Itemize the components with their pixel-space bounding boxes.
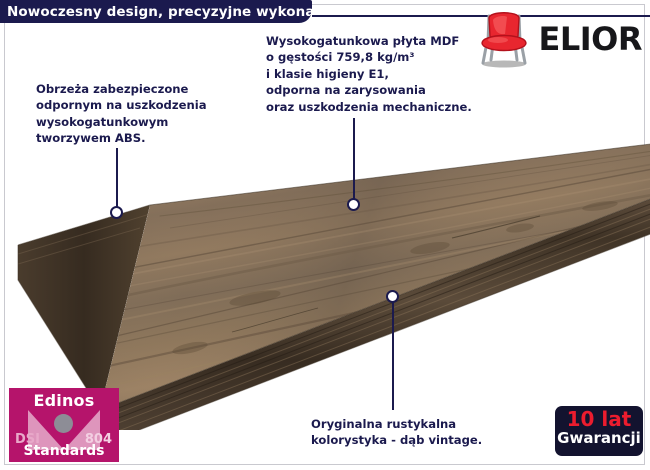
header-banner: Nowoczesny design, precyzyjne wykonanie! <box>0 0 312 23</box>
header-banner-text: Nowoczesny design, precyzyjne wykonanie! <box>0 4 345 20</box>
edinos-subtitle: Standards <box>9 443 119 459</box>
leader-line-mdf <box>353 118 355 204</box>
product-infographic: Nowoczesny design, precyzyjne wykonanie!… <box>0 0 650 470</box>
warranty-years: 10 lat <box>555 409 643 430</box>
callout-marker-color[interactable] <box>386 290 399 303</box>
mdf-board-illustration <box>0 120 650 430</box>
edinos-title: Edinos <box>9 391 119 410</box>
warranty-label: Gwarancji <box>555 431 643 447</box>
callout-marker-abs[interactable] <box>110 206 123 219</box>
edinos-certificate-badge: Edinos DSI 804 Standards <box>9 388 119 462</box>
brand-logo: ELIOR <box>466 6 644 72</box>
red-chair-icon <box>471 8 535 70</box>
leader-line-color <box>392 302 394 410</box>
leader-line-abs <box>116 148 118 212</box>
brand-name: ELIOR <box>539 23 645 55</box>
callout-color-text: Oryginalna rustykalna kolorystyka - dąb … <box>311 416 482 449</box>
edinos-dot-shape <box>54 414 73 433</box>
callout-mdf-text: Wysokogatunkowa płyta MDF o gęstości 759… <box>266 33 472 115</box>
callout-abs-text: Obrzeża zabezpieczone odpornym na uszkod… <box>36 81 207 147</box>
callout-marker-mdf[interactable] <box>347 198 360 211</box>
warranty-badge: 10 lat Gwarancji <box>555 406 643 456</box>
